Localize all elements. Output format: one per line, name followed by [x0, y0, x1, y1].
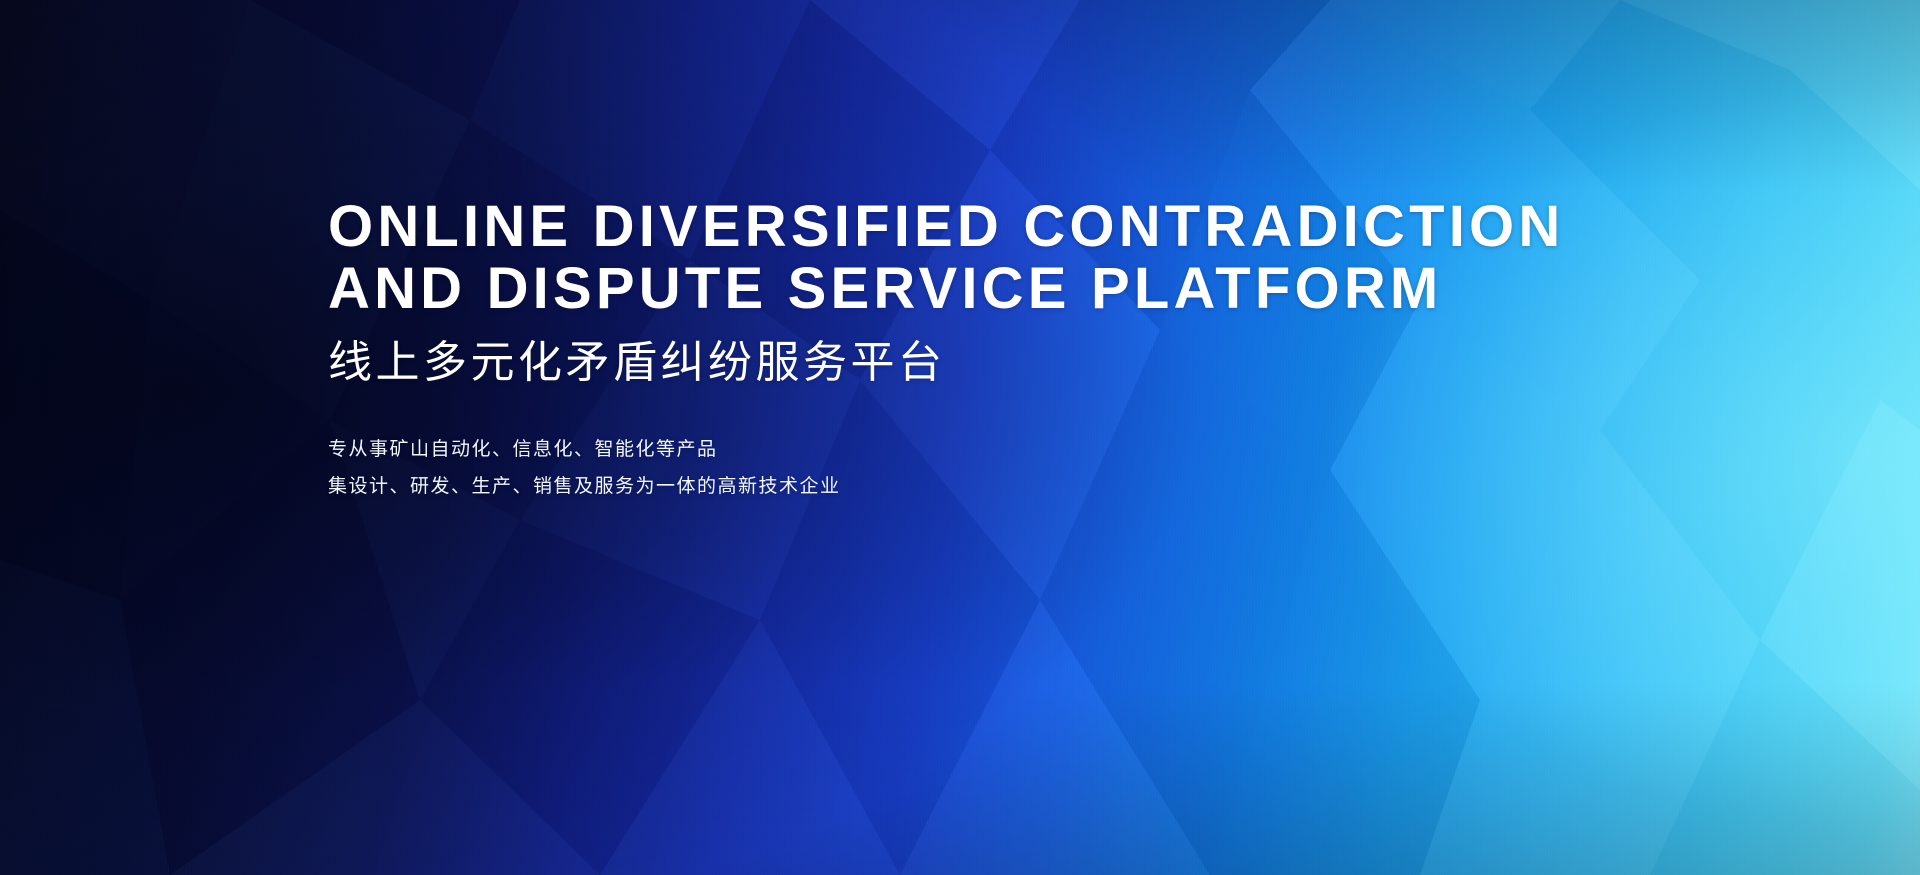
- headline-line-2: AND DISPUTE SERVICE PLATFORM: [328, 258, 1564, 320]
- body-line-2: 集设计、研发、生产、销售及服务为一体的高新技术企业: [328, 468, 1564, 505]
- subheadline-chinese: 线上多元化矛盾纠纷服务平台: [328, 337, 1564, 389]
- body-copy: 专从事矿山自动化、信息化、智能化等产品 集设计、研发、生产、销售及服务为一体的高…: [328, 431, 1564, 505]
- headline-line-1: ONLINE DIVERSIFIED CONTRADICTION: [328, 196, 1564, 258]
- hero-copy-block: ONLINE DIVERSIFIED CONTRADICTION AND DIS…: [328, 196, 1564, 505]
- hero-banner: ONLINE DIVERSIFIED CONTRADICTION AND DIS…: [0, 0, 1920, 875]
- body-line-1: 专从事矿山自动化、信息化、智能化等产品: [328, 431, 1564, 468]
